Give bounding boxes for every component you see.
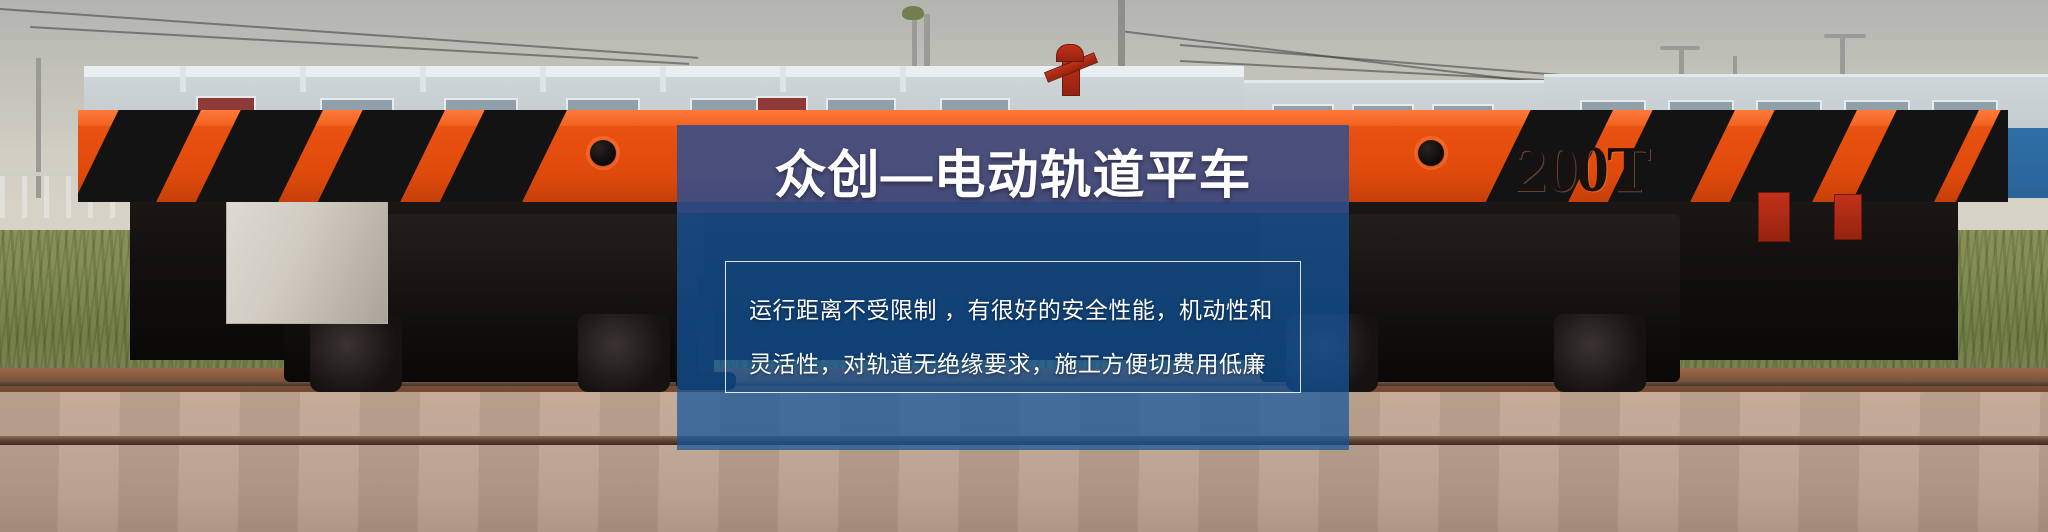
control-cabinet [226,200,388,324]
deck-bolt [1418,140,1444,166]
deck-bolt [590,140,616,166]
roof-truss [900,66,906,92]
roof-truss [660,66,666,92]
roof-truss [300,66,306,92]
overlay-title: 众创—电动轨道平车 [677,147,1349,207]
buffer-box [1758,192,1790,242]
cart-wheel [310,314,402,392]
overlay-description: 运行距离不受限制 ，有很好的安全性能，机动性和 灵活性，对轨道无绝缘要求，施工方… [749,283,1279,391]
overlay-description-line-2: 灵活性，对轨道无绝缘要求，施工方便切费用低廉 [749,337,1279,391]
roof-truss [540,66,546,92]
banner-stage: 200T 众创—电动轨道平车 运行距离不受限制 ，有很好的安全性能，机动性和 灵… [0,0,2048,532]
buffer-box [1834,194,1862,240]
roof-truss [180,66,186,92]
overlay-description-line-1: 运行距离不受限制 ，有很好的安全性能，机动性和 [749,283,1279,337]
street-lamp [1824,34,1866,38]
tree-silhouette [902,6,924,20]
load-capacity-label: 200T [1514,132,1649,208]
cart-wheel [578,314,670,392]
roof-crane-cap [1056,44,1084,62]
roof-truss [780,66,786,92]
street-lamp [1660,46,1700,50]
overlay-panel: 众创—电动轨道平车 运行距离不受限制 ，有很好的安全性能，机动性和 灵活性，对轨… [677,125,1349,450]
cart-wheel [1554,314,1646,392]
roof-truss [420,66,426,92]
